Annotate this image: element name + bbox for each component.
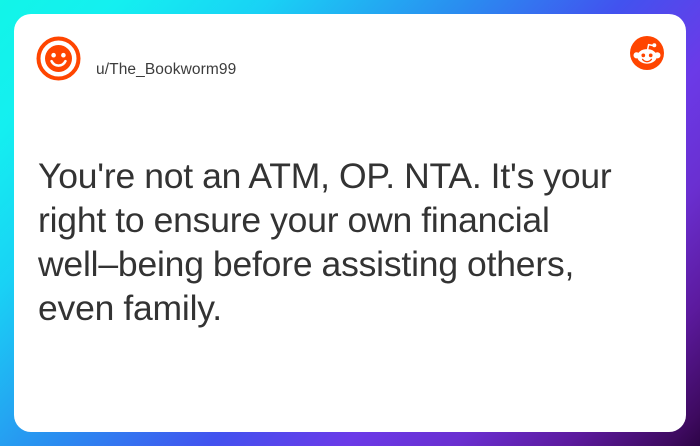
comment-quote-text: You're not an ATM, OP. NTA. It's your ri… (38, 154, 638, 330)
card-header: u/The_Bookworm99 (14, 14, 686, 92)
reddit-comment-card: u/The_Bookworm99 (14, 14, 686, 432)
reddit-snoo-logo-icon[interactable] (630, 36, 664, 70)
username-label[interactable]: u/The_Bookworm99 (96, 61, 236, 79)
screenshot-canvas: u/The_Bookworm99 (0, 0, 700, 446)
smiley-face-avatar-icon (36, 36, 81, 81)
